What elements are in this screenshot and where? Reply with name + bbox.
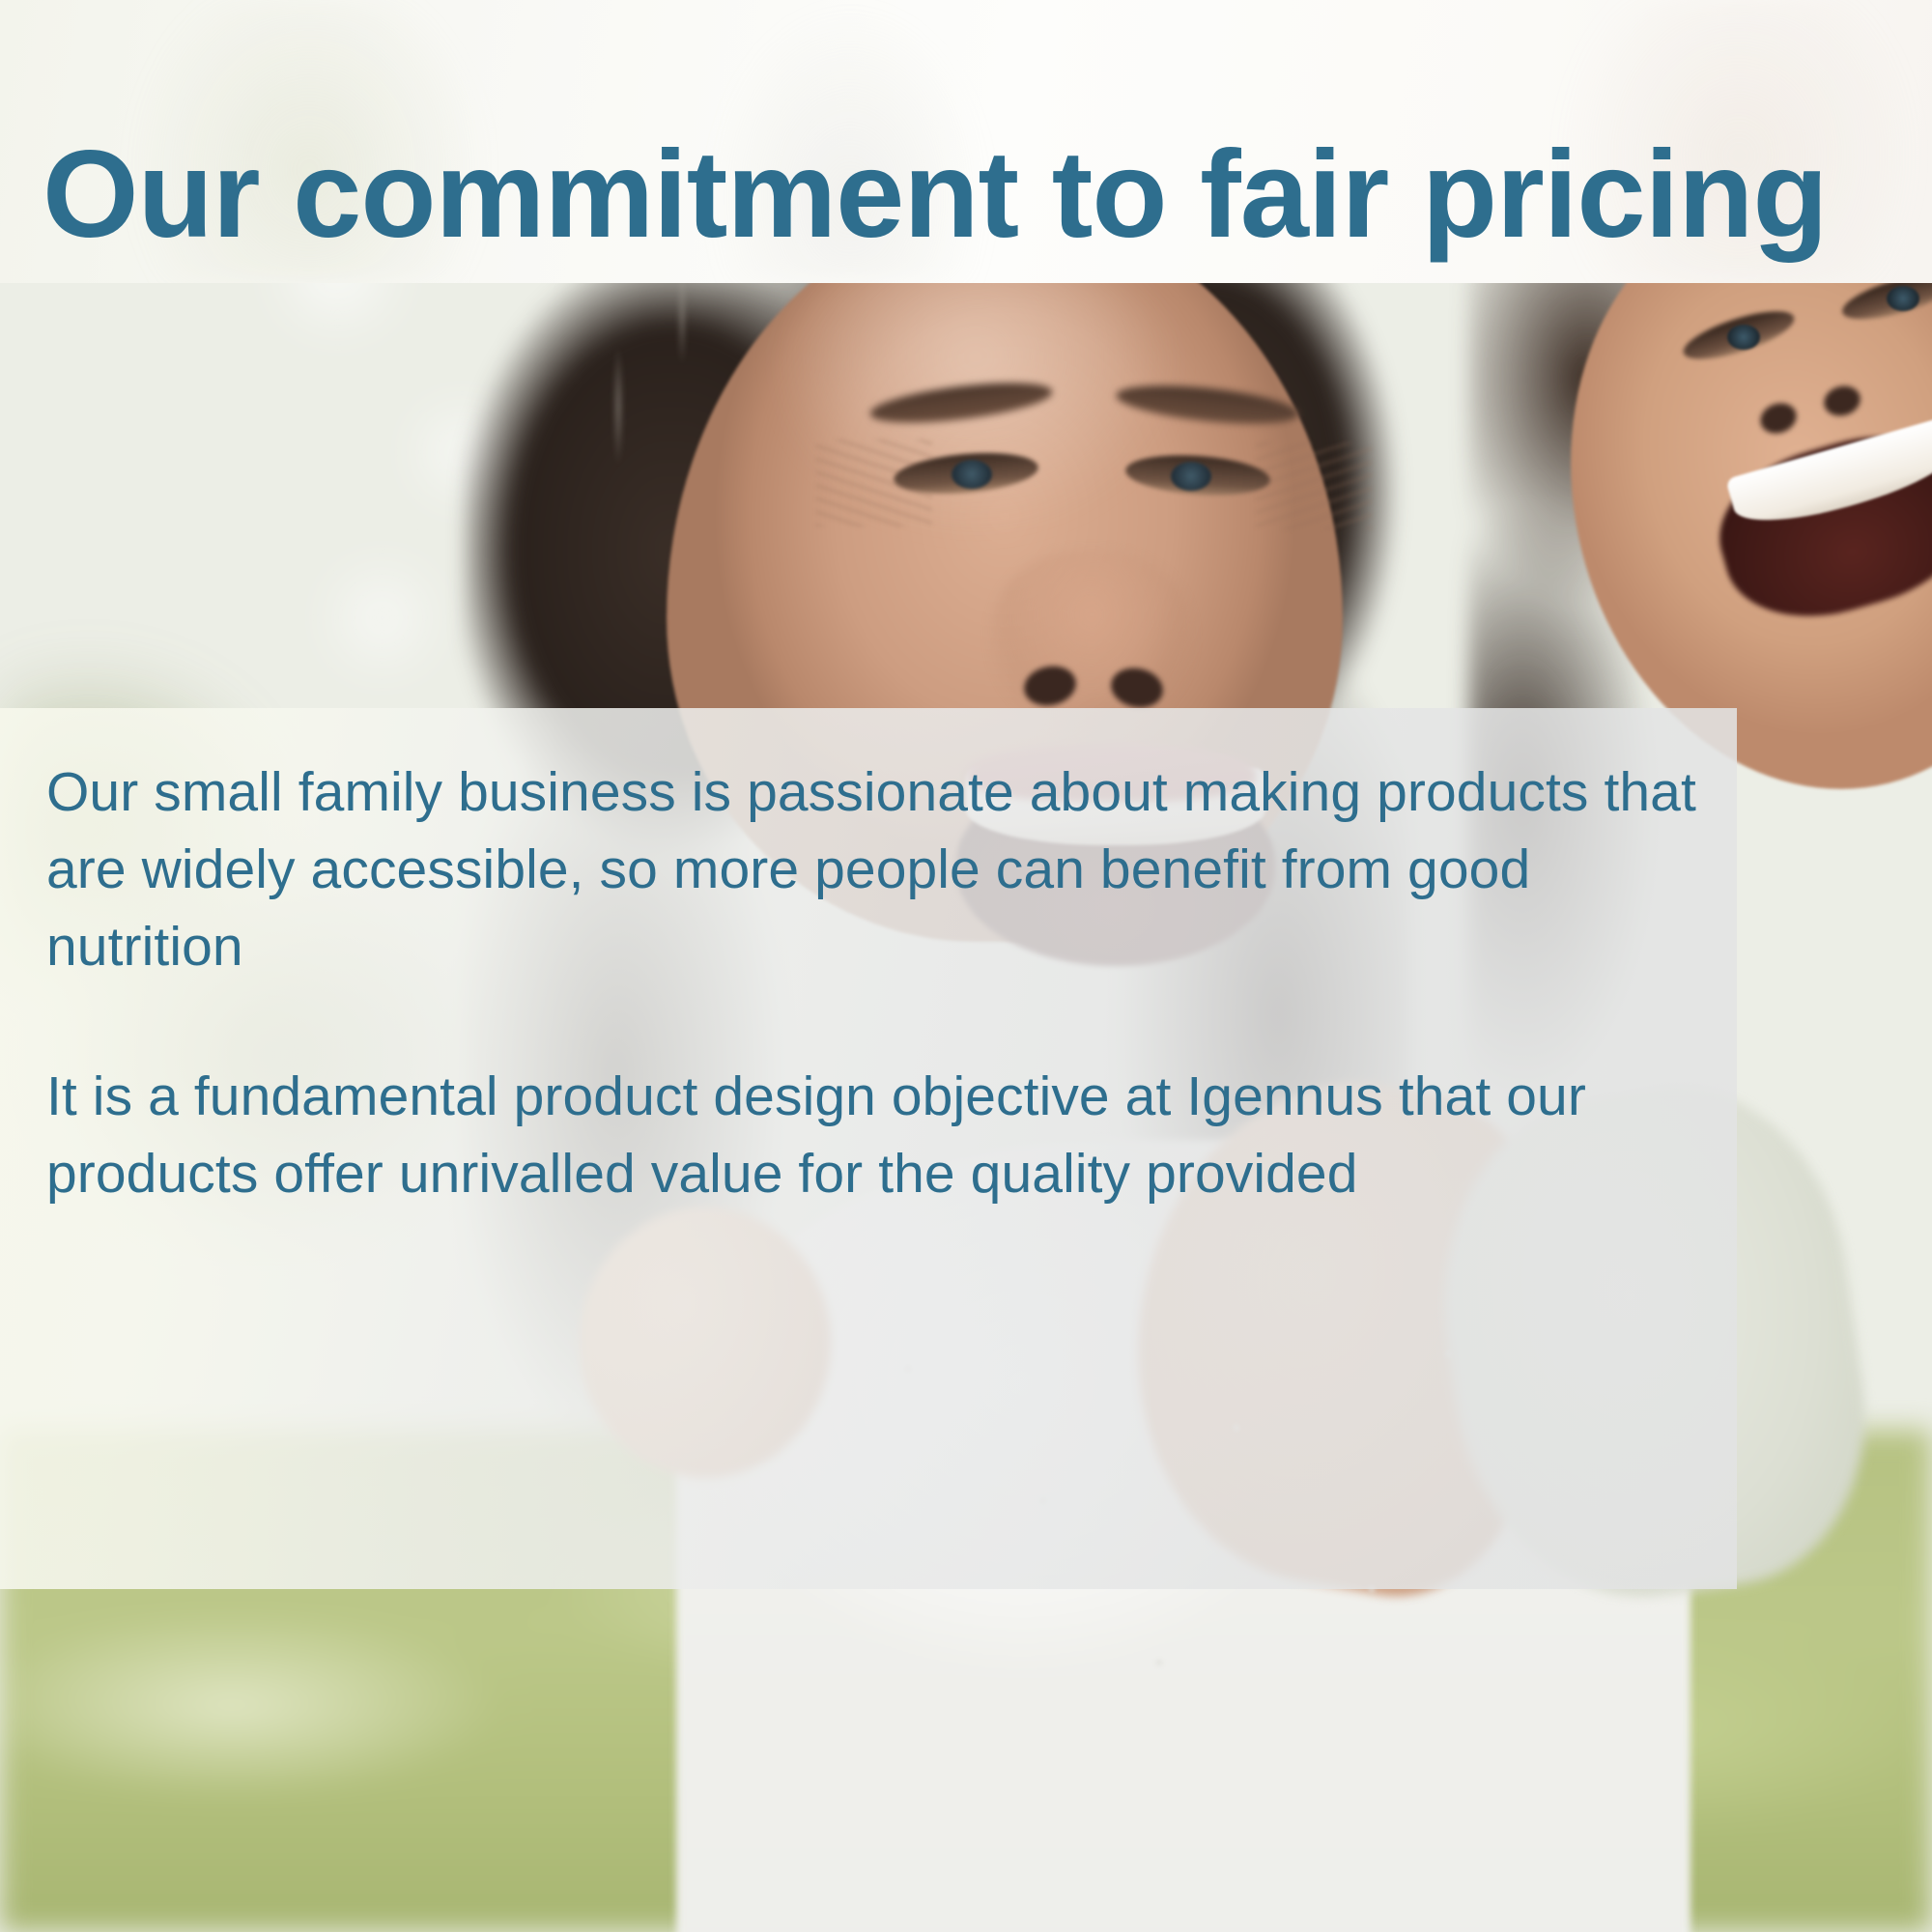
woman-iris-right	[1171, 462, 1211, 491]
child-iris-right	[1887, 286, 1919, 311]
body-paragraph-2: It is a fundamental product design objec…	[46, 1059, 1698, 1213]
text-overlay-panel: Our small family business is passionate …	[0, 708, 1737, 1589]
body-paragraph-1: Our small family business is passionate …	[46, 754, 1698, 985]
child-iris-left	[1727, 325, 1760, 350]
woman-iris-left	[952, 460, 992, 489]
page-title: Our commitment to fair pricing	[43, 133, 1917, 257]
text-panel-content: Our small family business is passionate …	[46, 754, 1698, 1213]
woman-eye-crease-right	[1256, 442, 1372, 529]
poster-canvas: Our commitment to fair pricing Our small…	[0, 0, 1932, 1932]
woman-nose	[990, 551, 1193, 734]
